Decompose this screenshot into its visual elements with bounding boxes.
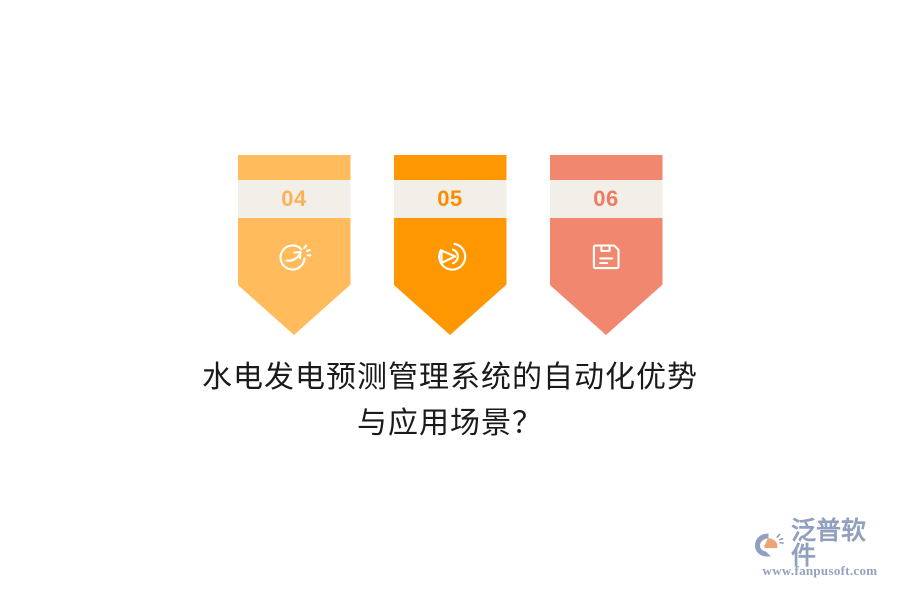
watermark-logo: 泛普软件 www.fanpusoft.com [752, 526, 888, 588]
watermark-url-text: www.fanpusoft.com [752, 563, 888, 579]
save-document-icon [586, 236, 626, 276]
banner-top-band [238, 155, 351, 180]
play-arc-circle-icon [430, 236, 470, 276]
page-title-line-1: 水电发电预测管理系统的自动化优势 [0, 355, 900, 401]
banner-number: 04 [281, 188, 306, 210]
banner-card-04[interactable]: 04 [238, 155, 351, 335]
banner-number: 06 [593, 188, 618, 210]
banner-number-strip: 06 [550, 180, 663, 218]
banner-body [238, 218, 351, 335]
banner-card-05[interactable]: 05 [394, 155, 507, 335]
fanpu-logo-icon [752, 528, 786, 560]
page-title-line-2: 与应用场景？ [0, 401, 900, 447]
banner-top-band [550, 155, 663, 180]
growth-arrow-circle-icon [274, 236, 314, 276]
banner-row: 04 05 [0, 155, 900, 335]
banner-card-06[interactable]: 06 [550, 155, 663, 335]
banner-number-strip: 04 [238, 180, 351, 218]
banner-number-strip: 05 [394, 180, 507, 218]
banner-body [394, 218, 507, 335]
banner-number: 05 [437, 188, 462, 210]
poster-canvas: 04 05 [0, 0, 900, 600]
banner-top-band [394, 155, 507, 180]
watermark-top-row: 泛普软件 [752, 526, 888, 562]
page-title: 水电发电预测管理系统的自动化优势 与应用场景？ [0, 355, 900, 447]
banner-body [550, 218, 663, 335]
watermark-brand-text: 泛普软件 [791, 519, 888, 569]
